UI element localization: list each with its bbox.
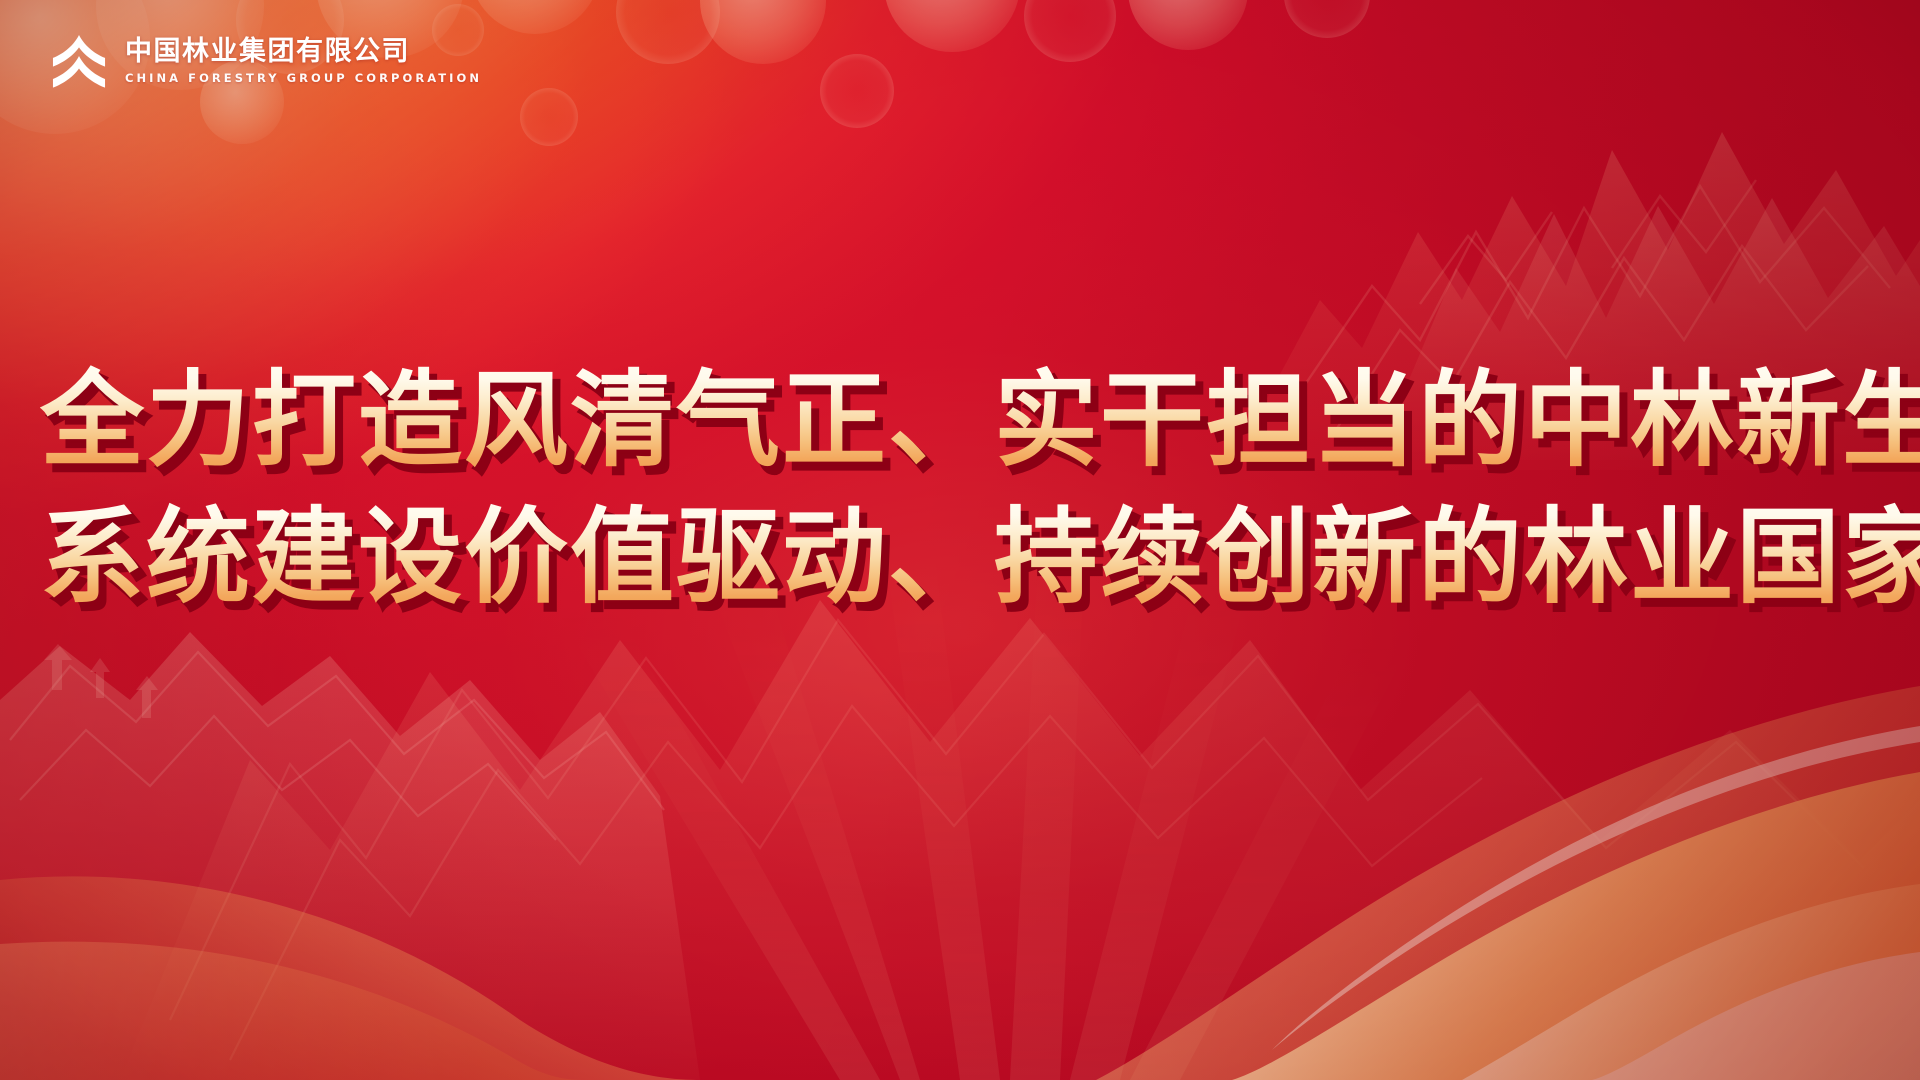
brand-logo[interactable]: 中国林业集团有限公司 CHINA FORESTRY GROUP CORPORAT…	[48, 30, 482, 92]
headline-line-1: 全力打造风清气正、实干担当的中林新生态 全力打造风清气正、实干担当的中林新生态	[40, 352, 1880, 489]
brand-name-cn: 中国林业集团有限公司	[125, 37, 482, 67]
banner-poster: 中国林业集团有限公司 CHINA FORESTRY GROUP CORPORAT…	[0, 0, 1920, 1080]
headline-block: 全力打造风清气正、实干担当的中林新生态 全力打造风清气正、实干担当的中林新生态 …	[0, 352, 1920, 627]
brand-name-en: CHINA FORESTRY GROUP CORPORATION	[125, 72, 482, 85]
pagoda-mountain-chevron-logo-icon	[48, 30, 110, 92]
headline-line-2-text: 系统建设价值驱动、持续创新的林业国家队	[40, 496, 1920, 618]
headline-line-2: 系统建设价值驱动、持续创新的林业国家队 系统建设价值驱动、持续创新的林业国家队	[40, 489, 1880, 626]
headline-line-1-text: 全力打造风清气正、实干担当的中林新生态	[40, 359, 1920, 481]
brand-logo-text: 中国林业集团有限公司 CHINA FORESTRY GROUP CORPORAT…	[125, 37, 482, 85]
